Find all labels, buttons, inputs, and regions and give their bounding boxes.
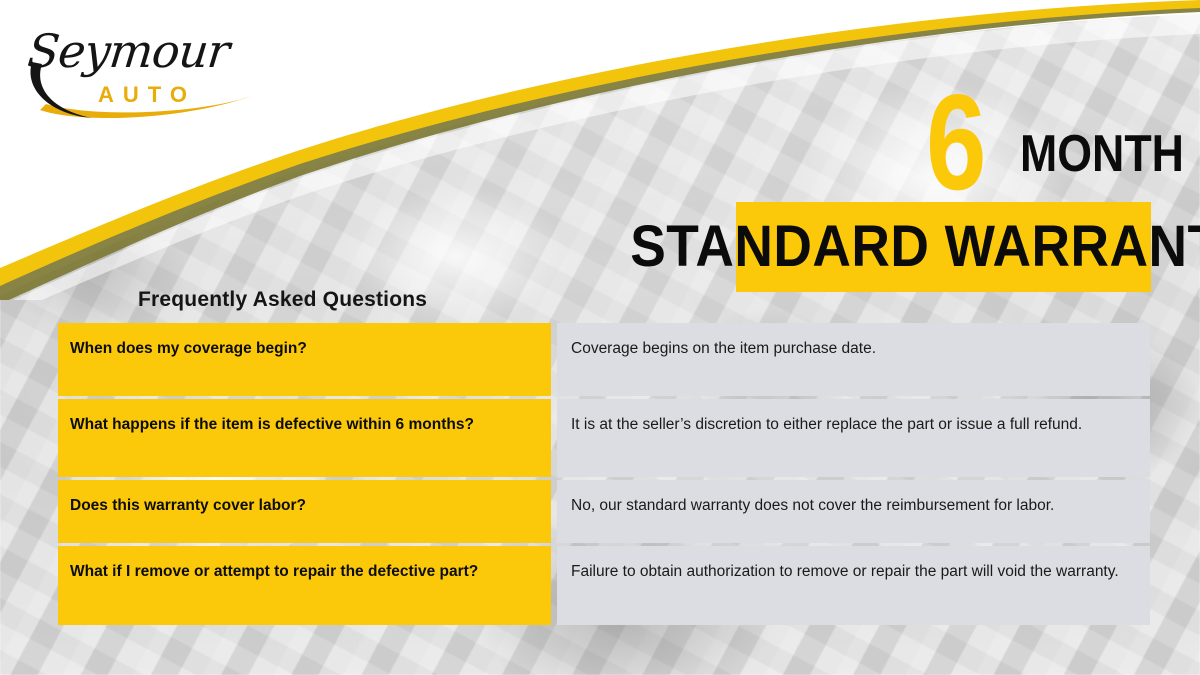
- faq-heading: Frequently Asked Questions: [138, 288, 427, 312]
- standard-warranty-label: STANDARD WARRANTY: [630, 218, 1200, 276]
- faq-answer-cell: It is at the seller’s discretion to eith…: [557, 399, 1150, 477]
- logo-swoosh-icon: [22, 18, 272, 128]
- faq-table: When does my coverage begin? Coverage be…: [58, 320, 1150, 628]
- table-row: When does my coverage begin? Coverage be…: [58, 323, 1150, 396]
- table-row: What if I remove or attempt to repair th…: [58, 546, 1150, 625]
- seymour-auto-logo: Seymour AUTO: [22, 18, 272, 128]
- faq-question-cell: What happens if the item is defective wi…: [58, 399, 557, 477]
- faq-question-cell: Does this warranty cover labor?: [58, 480, 557, 543]
- warranty-duration-number: 6: [926, 74, 985, 210]
- warranty-duration-unit: MONTH: [1020, 128, 1184, 180]
- table-row: What happens if the item is defective wi…: [58, 399, 1150, 477]
- faq-question-cell: What if I remove or attempt to repair th…: [58, 546, 557, 625]
- table-row: Does this warranty cover labor? No, our …: [58, 480, 1150, 543]
- faq-question-cell: When does my coverage begin?: [58, 323, 557, 396]
- standard-warranty-banner: STANDARD WARRANTY: [736, 202, 1151, 292]
- slide-canvas: Seymour AUTO 6 MONTH STANDARD WARRANTY F…: [0, 0, 1200, 675]
- faq-answer-cell: No, our standard warranty does not cover…: [557, 480, 1150, 543]
- faq-answer-cell: Failure to obtain authorization to remov…: [557, 546, 1150, 625]
- faq-answer-cell: Coverage begins on the item purchase dat…: [557, 323, 1150, 396]
